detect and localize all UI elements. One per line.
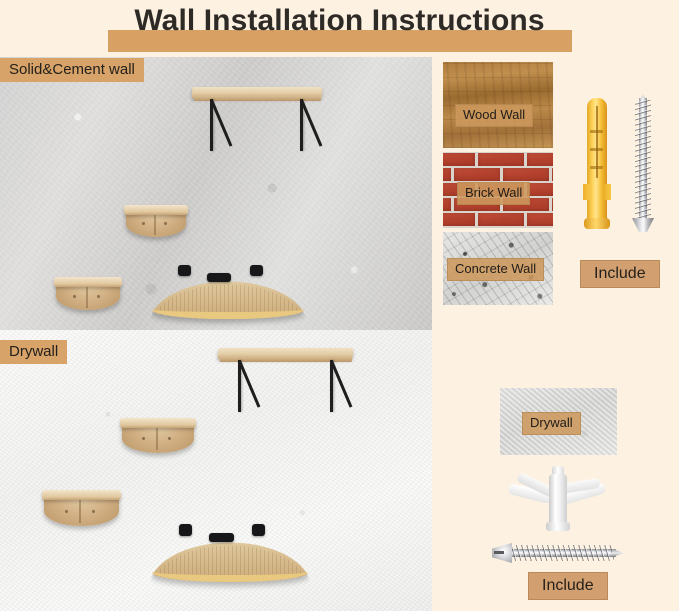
white-toggle-anchor-icon — [508, 466, 608, 532]
label-brick-wall: Brick Wall — [457, 182, 530, 205]
page-title: Wall Installation Instructions — [0, 4, 679, 38]
half-moon-perch-lower — [44, 490, 119, 532]
brick-row — [443, 212, 553, 227]
curved-cat-bridge — [152, 247, 304, 319]
screw-tip — [612, 549, 624, 557]
perch-seam — [156, 428, 158, 450]
brick — [503, 168, 549, 181]
perch-body — [44, 496, 119, 526]
screw-threads — [635, 100, 651, 220]
anchor-notch — [590, 148, 603, 151]
shelf-bracket-right-diagonal — [330, 360, 352, 407]
perch-screw-hole — [164, 222, 167, 225]
label-drywall-swatch: Drywall — [522, 412, 581, 435]
shelf-bracket-right-diagonal — [300, 99, 322, 146]
screw-threads — [510, 545, 614, 561]
anchor-collar — [584, 218, 610, 229]
bridge-mount-clip — [179, 524, 192, 536]
bridge-mount-clip — [209, 533, 234, 542]
perch-screw-hole — [65, 510, 68, 513]
bridge-mount-clip — [252, 524, 265, 536]
perch-lip — [42, 490, 121, 500]
toggle-collar — [546, 522, 570, 531]
perch-seam — [154, 215, 156, 235]
brick — [443, 198, 451, 211]
perch-lip — [124, 205, 188, 215]
screw-vertical-icon — [632, 92, 654, 244]
anchor-wing-right — [604, 184, 611, 200]
curved-cat-bridge — [152, 506, 308, 582]
perch-screw-hole — [142, 222, 145, 225]
screw-head-slot — [494, 551, 504, 554]
brick — [527, 183, 553, 196]
shelf-bracket-left-diagonal — [210, 99, 232, 146]
include-badge-drywall: Include — [528, 572, 608, 600]
include-badge-solid: Include — [580, 260, 660, 288]
brick — [527, 213, 553, 226]
half-moon-perch-upper — [126, 205, 186, 241]
anchor-notch — [590, 166, 603, 169]
bridge-mount-clip — [207, 273, 231, 282]
wall-shelf — [192, 87, 322, 147]
wall-shelf — [218, 348, 353, 410]
brick-row — [443, 167, 553, 182]
screw-horizontal-icon — [486, 542, 634, 564]
instruction-page: Wall Installation Instructions — [0, 0, 679, 611]
photo-drywall — [0, 330, 432, 611]
yellow-wall-anchor-icon — [584, 98, 610, 242]
photo-solid-cement-wall — [0, 57, 432, 330]
brick — [443, 168, 451, 181]
perch-screw-hole — [73, 295, 76, 298]
brick — [443, 153, 475, 166]
half-moon-perch-lower — [56, 277, 120, 315]
bridge-rim — [152, 247, 304, 319]
bridge-mount-clip — [178, 265, 191, 276]
bridge-rim — [152, 506, 308, 582]
brick-row — [443, 152, 553, 167]
half-moon-perch-upper — [122, 418, 194, 458]
brick — [443, 213, 475, 226]
label-wood-wall: Wood Wall — [455, 104, 533, 127]
brick — [478, 213, 524, 226]
brick — [527, 153, 553, 166]
perch-screw-hole — [142, 437, 145, 440]
perch-lip — [54, 277, 122, 287]
anchor-notch — [590, 130, 603, 133]
perch-lip — [120, 418, 196, 428]
perch-screw-hole — [168, 437, 171, 440]
shelf-bracket-left-diagonal — [238, 360, 260, 407]
brick — [552, 198, 553, 211]
screw-head — [632, 218, 654, 232]
perch-body — [122, 424, 194, 453]
label-drywall-panel: Drywall — [0, 340, 67, 364]
bridge-mount-clip — [250, 265, 263, 276]
perch-screw-hole — [97, 295, 100, 298]
label-solid-cement-wall: Solid&Cement wall — [0, 58, 144, 82]
perch-seam — [86, 287, 88, 308]
brick — [552, 168, 553, 181]
anchor-wing-left — [583, 184, 590, 200]
page-header: Wall Installation Instructions — [0, 2, 679, 54]
label-concrete-wall: Concrete Wall — [447, 258, 544, 281]
perch-screw-hole — [92, 510, 95, 513]
perch-seam — [79, 500, 81, 523]
brick — [478, 153, 524, 166]
brick — [454, 168, 500, 181]
